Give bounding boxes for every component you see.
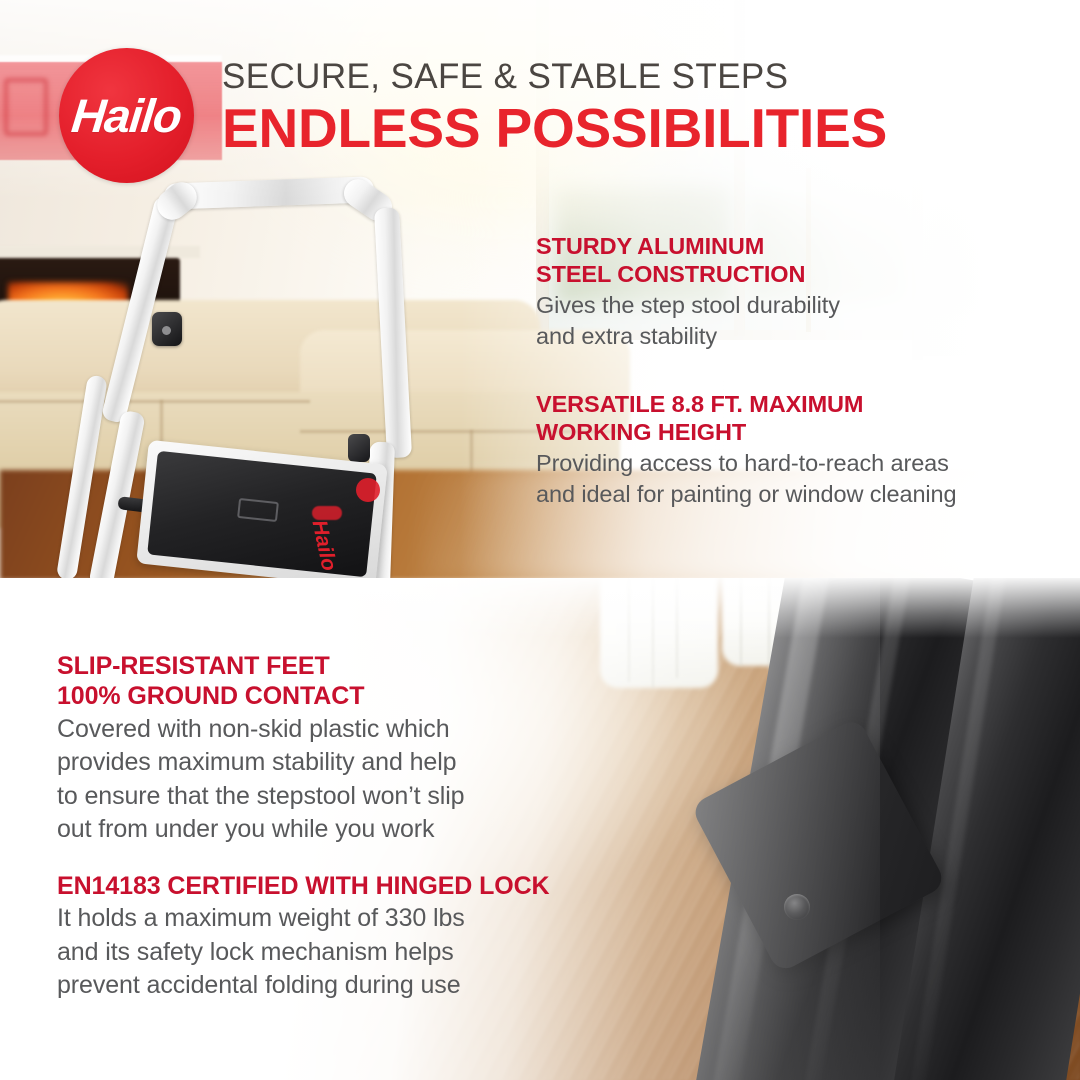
header-titles: SECURE, SAFE & STABLE STEPS ENDLESS POSS… (222, 58, 887, 157)
step-stool-image: Hailo (60, 190, 480, 578)
feature-body-line4: out from under you while you work (57, 813, 464, 846)
feature-body-line1: Covered with non-skid plastic which (57, 713, 464, 746)
infographic-page: Hailo Hailo SECURE, SAFE & STABLE STEPS … (0, 0, 1080, 1080)
feature-heading-line2: WORKING HEIGHT (536, 418, 956, 446)
feature-body-line2: and extra stability (536, 321, 840, 352)
bottom-panel: SLIP-RESISTANT FEET 100% GROUND CONTACT … (0, 578, 1080, 1080)
header-title: ENDLESS POSSIBILITIES (222, 99, 887, 157)
feature-sturdy-aluminum: STURDY ALUMINUM STEEL CONSTRUCTION Gives… (536, 232, 840, 352)
feature-body-line2: provides maximum stability and help (57, 746, 464, 779)
feature-en14183-certified: EN14183 CERTIFIED WITH HINGED LOCK It ho… (57, 871, 550, 1002)
feature-heading-line1: SLIP-RESISTANT FEET (57, 651, 464, 681)
feature-body-line1: Gives the step stool durability (536, 290, 840, 321)
feature-body-line2: and its safety lock mechanism helps (57, 936, 550, 969)
feature-body-line1: It holds a maximum weight of 330 lbs (57, 902, 550, 935)
feature-working-height: VERSATILE 8.8 FT. MAXIMUM WORKING HEIGHT… (536, 390, 956, 510)
feature-body-line3: prevent accidental folding during use (57, 969, 550, 1002)
header-subtitle: SECURE, SAFE & STABLE STEPS (222, 58, 887, 96)
feature-body-line2: and ideal for painting or window cleanin… (536, 479, 956, 510)
feature-heading-line1: VERSATILE 8.8 FT. MAXIMUM (536, 390, 956, 418)
hailo-logo: Hailo (59, 48, 194, 183)
hailo-logo-text: Hailo (70, 92, 184, 139)
feature-heading-line2: STEEL CONSTRUCTION (536, 260, 840, 288)
feature-heading-line1: EN14183 CERTIFIED WITH HINGED LOCK (57, 871, 550, 901)
feature-slip-resistant-feet: SLIP-RESISTANT FEET 100% GROUND CONTACT … (57, 651, 464, 846)
feature-heading-line2: 100% GROUND CONTACT (57, 681, 464, 711)
feature-body-line3: to ensure that the stepstool won’t slip (57, 780, 464, 813)
top-panel: Hailo Hailo SECURE, SAFE & STABLE STEPS … (0, 0, 1080, 578)
feature-body-line1: Providing access to hard-to-reach areas (536, 448, 956, 479)
feature-heading-line1: STURDY ALUMINUM (536, 232, 840, 260)
